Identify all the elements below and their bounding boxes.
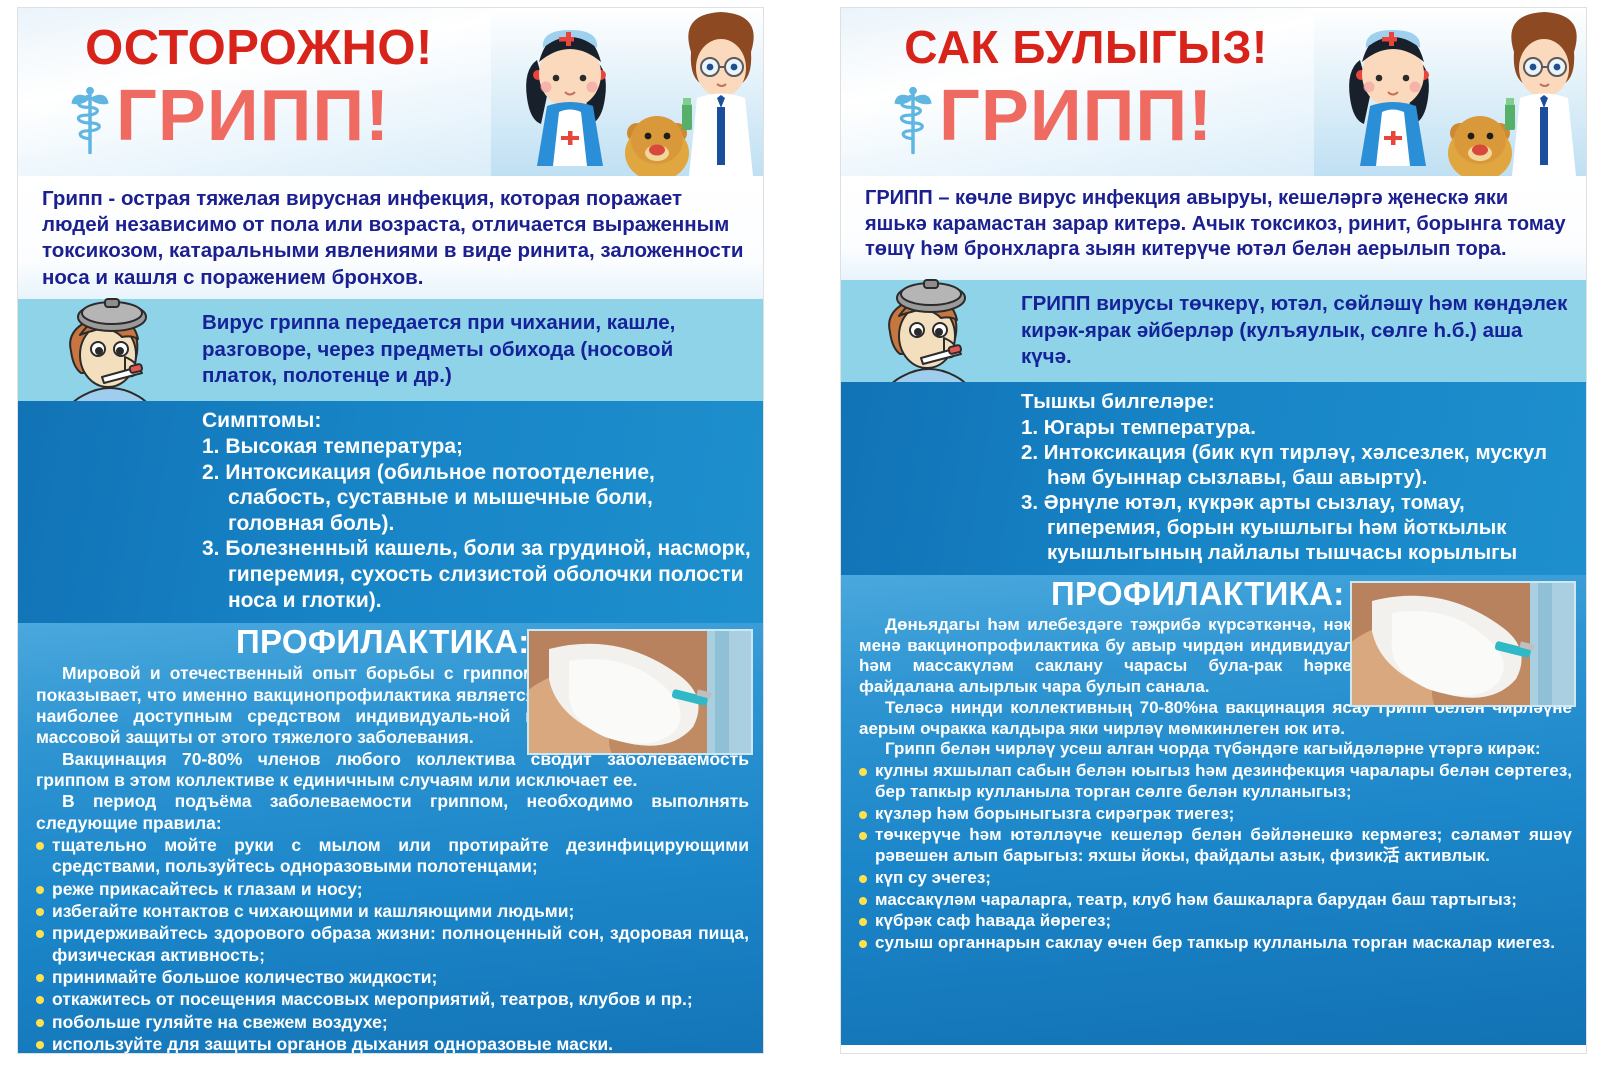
rule-item: придерживайтесь здорового образа жизни: … — [36, 923, 749, 966]
intro-block: ГРИПП – көчле вирус инфекция авыруы, кеш… — [841, 176, 1586, 280]
rule-item: төчкерүче һәм ютәлләүче кешеләр белән бә… — [859, 825, 1572, 866]
vaccination-photo — [1350, 581, 1576, 707]
symptoms-block: Тышкы билгеләре: 1. Югары температура. 2… — [841, 382, 1586, 575]
rule-item: используйте для защиты органов дыхания о… — [36, 1034, 749, 1053]
transmission-block: Вирус гриппа передается при чихании, каш… — [18, 299, 763, 401]
intro-text: Грипп - острая тяжелая вирусная инфекция… — [42, 186, 745, 291]
poster-panel-tatar: САК БУЛЫГЫЗ! ГРИПП! — [841, 8, 1586, 1053]
prophylaxis-para-3: Грипп белән чирләү усеш алган чорда түбә… — [859, 739, 1572, 760]
rule-item: күбрәк саф һавада йөрегез; — [859, 911, 1572, 932]
rule-item: күзләр һәм борыныгызга сирәгрәк тиегез; — [859, 804, 1572, 825]
vaccination-photo — [527, 629, 753, 755]
prophylaxis-block: ПРОФИЛАКТИКА: Дөньядагы һәм илебездәге т… — [841, 575, 1586, 1045]
poster-pair: ОСТОРОЖНО! ГРИПП! — [0, 0, 1600, 1065]
symptom-item: 1. Югары температура. — [1021, 415, 1576, 440]
intro-text: ГРИПП – көчле вирус инфекция авыруы, кеш… — [865, 186, 1568, 263]
rule-item: принимайте большое количество жидкости; — [36, 967, 749, 988]
symptom-item: 2. Интоксикация (обильное потоотделение,… — [202, 460, 753, 537]
prevention-rules-list: тщательно мойте руки с мылом или протира… — [36, 835, 749, 1053]
header-subtitle-row: ГРИПП! — [70, 82, 390, 160]
rule-item: массакүләм чараларга, театр, клуб һәм ба… — [859, 890, 1572, 911]
prophylaxis-block: ПРОФИЛАКТИКА: Мировой и отечественный оп… — [18, 623, 763, 1053]
rule-item: реже прикасайтесь к глазам и носу; — [36, 879, 749, 900]
rule-item: откажитесь от посещения массовых меропри… — [36, 989, 749, 1010]
symptoms-list: 1. Высокая температура; 2. Интоксикация … — [202, 434, 753, 613]
flu-headline: ГРИПП! — [116, 82, 390, 150]
page-title: ОСТОРОЖНО! — [44, 24, 474, 73]
transmission-text: Вирус гриппа передается при чихании, каш… — [202, 310, 749, 390]
symptoms-block: Симптомы: 1. Высокая температура; 2. Инт… — [18, 401, 763, 623]
panel-header: ОСТОРОЖНО! ГРИПП! — [18, 8, 763, 176]
symptom-item: 3. Болезненный кашель, боли за грудиной,… — [202, 536, 753, 613]
symptom-item: 1. Высокая температура; — [202, 434, 753, 460]
transmission-block: ГРИПП вирусы төчкерү, ютәл, сөйләшү һәм … — [841, 280, 1586, 382]
transmission-text: ГРИПП вирусы төчкерү, ютәл, сөйләшү һәм … — [1021, 291, 1572, 371]
prophylaxis-para-3: В период подъёма заболеваемости гриппом,… — [36, 791, 749, 834]
symptom-item: 2. Интоксикация (бик күп тирләү, хәлсезл… — [1021, 440, 1576, 490]
symptom-item: 3. Әрнүле ютәл, күкрәк арты сызлау, тома… — [1021, 490, 1576, 565]
rule-item: кулны яхшылап сабын белән юыгыз һәм дези… — [859, 761, 1572, 802]
rule-item: тщательно мойте руки с мылом или протира… — [36, 835, 749, 878]
symptoms-heading: Тышкы билгеләре: — [1021, 390, 1576, 414]
symptoms-heading: Симптомы: — [202, 409, 753, 433]
flu-headline: ГРИПП! — [939, 82, 1213, 150]
caduceus-icon — [70, 82, 110, 160]
intro-block: Грипп - острая тяжелая вирусная инфекция… — [18, 176, 763, 299]
panel-header: САК БУЛЫГЫЗ! ГРИПП! — [841, 8, 1586, 176]
rule-item: күп су эчегез; — [859, 868, 1572, 889]
prophylaxis-para-1: Дөньядагы һәм илебездәге тәҗрибә күрсәтк… — [859, 615, 1364, 698]
nurse-doctor-teddy-illustration — [491, 8, 763, 176]
header-subtitle-row: ГРИПП! — [893, 82, 1213, 160]
rule-item: избегайте контактов с чихающими и кашляю… — [36, 901, 749, 922]
poster-panel-russian: ОСТОРОЖНО! ГРИПП! — [18, 8, 763, 1053]
symptoms-list: 1. Югары температура. 2. Интоксикация (б… — [1021, 415, 1576, 565]
prophylaxis-para-1: Мировой и отечественный опыт борьбы с гр… — [36, 663, 536, 748]
caduceus-icon — [893, 82, 933, 160]
prevention-rules-list: кулны яхшылап сабын белән юыгыз һәм дези… — [859, 761, 1572, 954]
rule-item: сулыш органнарын саклау өчен бер тапкыр … — [859, 933, 1572, 954]
nurse-doctor-teddy-illustration — [1314, 8, 1586, 176]
rule-item: побольше гуляйте на свежем воздухе; — [36, 1012, 749, 1033]
page-title: САК БУЛЫГЫЗ! — [871, 24, 1301, 70]
